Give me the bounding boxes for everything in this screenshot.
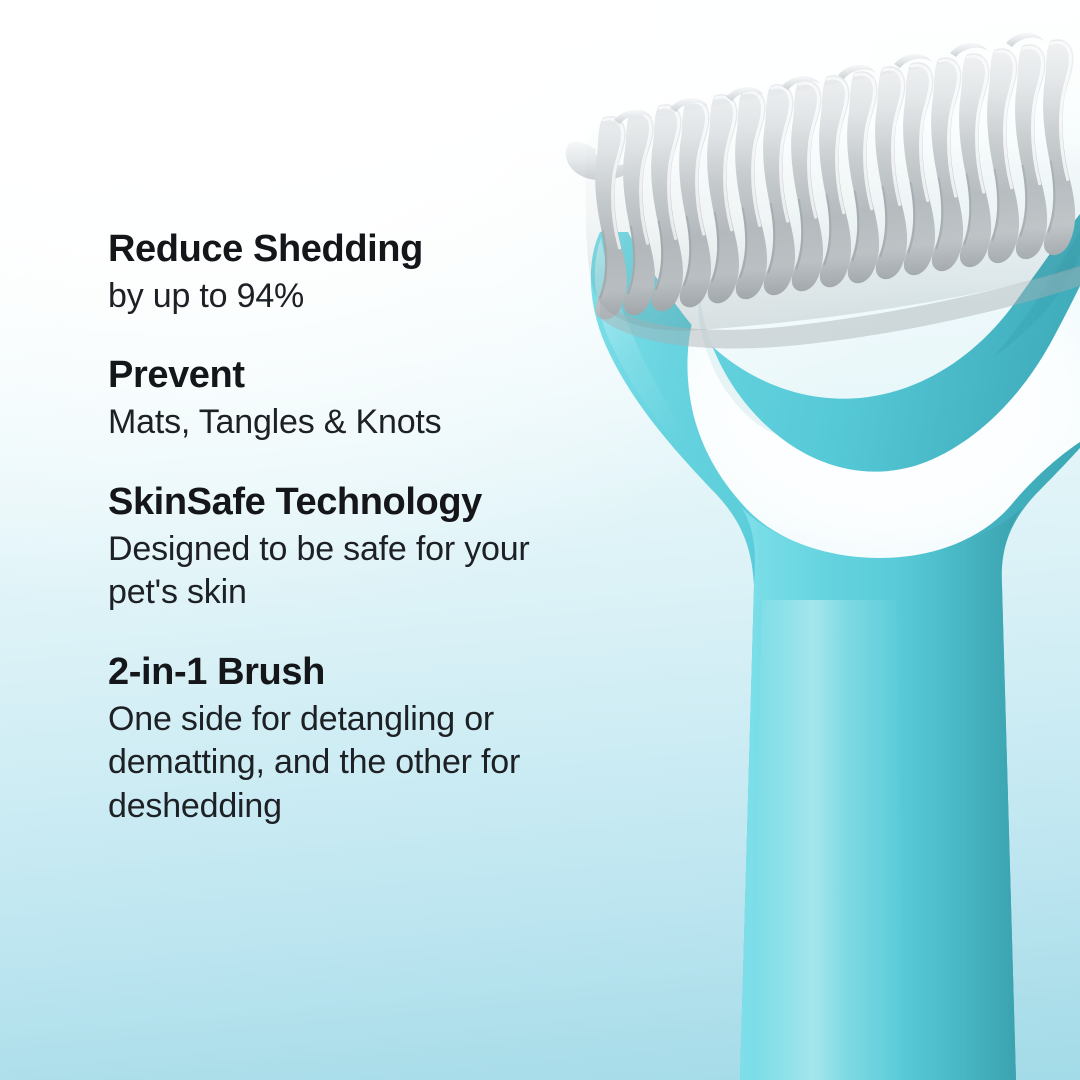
feature-heading: SkinSafe Technology: [108, 481, 608, 524]
feature-item-2-in-1-brush: 2-in-1 Brush One side for detangling or …: [108, 651, 608, 828]
brush-handle: [591, 214, 1080, 1080]
feature-body: by up to 94%: [108, 275, 588, 319]
feature-list: Reduce Shedding by up to 94% Prevent Mat…: [108, 228, 608, 828]
handle-aperture: [687, 286, 1080, 558]
feature-heading: Reduce Shedding: [108, 228, 608, 271]
feature-body: One side for detangling or dematting, an…: [108, 698, 588, 829]
feature-item-reduce-shedding: Reduce Shedding by up to 94%: [108, 228, 608, 318]
feature-body: Mats, Tangles & Knots: [108, 401, 588, 445]
feature-item-prevent: Prevent Mats, Tangles & Knots: [108, 354, 608, 444]
feature-heading: Prevent: [108, 354, 608, 397]
feature-body: Designed to be safe for your pet's skin: [108, 528, 588, 615]
feature-heading: 2-in-1 Brush: [108, 651, 608, 694]
comb-head: [566, 33, 1080, 349]
product-feature-card: Reduce Shedding by up to 94% Prevent Mat…: [0, 0, 1080, 1080]
feature-item-skinsafe-technology: SkinSafe Technology Designed to be safe …: [108, 481, 608, 615]
